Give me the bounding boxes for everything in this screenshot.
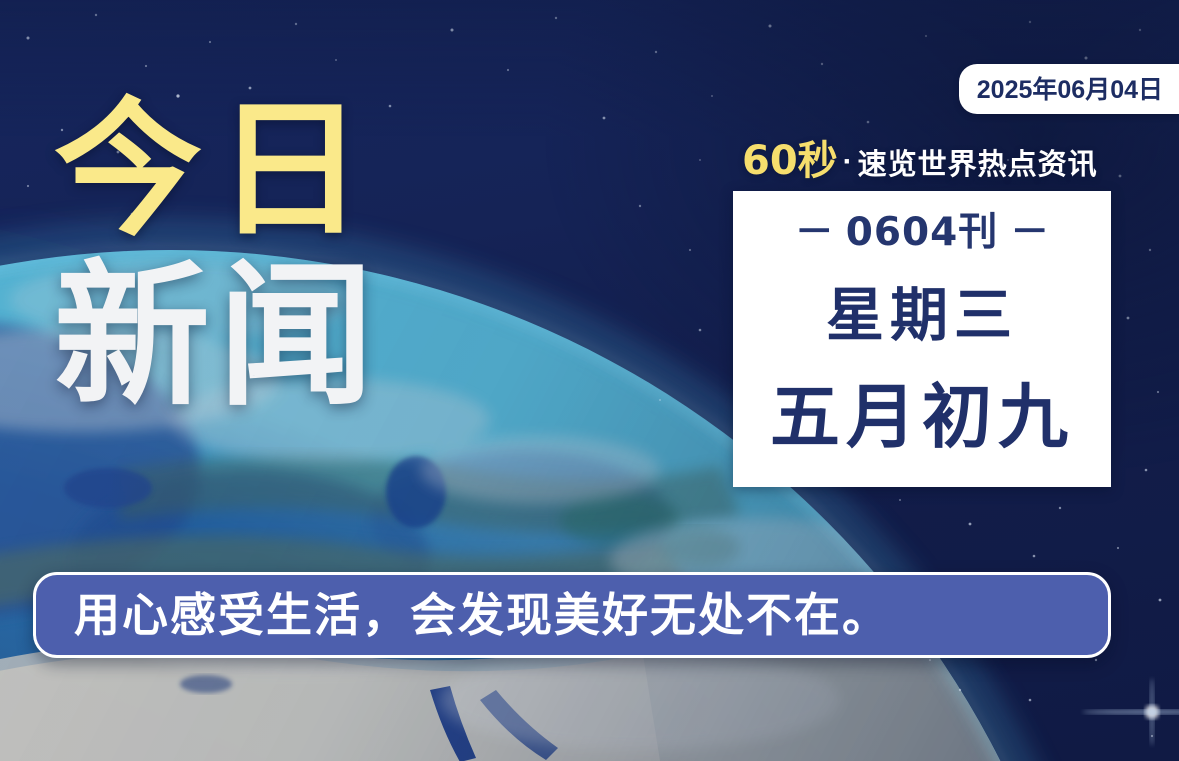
strapline-seconds: 60秒 — [742, 138, 838, 184]
lunar-date-label: 五月初九 — [770, 382, 1074, 452]
issue-info-card: －0604刊－ 星期三 五月初九 — [733, 191, 1111, 487]
strapline: 60秒·速览世界热点资讯 — [742, 141, 1122, 181]
strapline-separator: · — [843, 145, 853, 178]
poster-title: 今日 新闻 — [54, 96, 474, 414]
quote-text: 用心感受生活，会发现美好无处不在。 — [74, 592, 890, 638]
title-line-xinwen: 新闻 — [54, 258, 474, 414]
date-badge: 2025年06月04日 — [959, 64, 1179, 114]
title-line-jinri: 今日 — [54, 96, 474, 244]
news-poster: 今日 新闻 2025年06月04日 60秒·速览世界热点资讯 －0604刊－ 星… — [0, 0, 1179, 761]
issue-dash-left: － — [795, 210, 834, 255]
issue-number-row: －0604刊－ — [783, 213, 1062, 252]
issue-dash-right: － — [1010, 210, 1049, 255]
strapline-tagline: 速览世界热点资讯 — [858, 147, 1098, 181]
quote-banner: 用心感受生活，会发现美好无处不在。 — [33, 572, 1111, 658]
issue-number: 0604刊 — [846, 210, 999, 255]
weekday-label: 星期三 — [826, 286, 1018, 344]
